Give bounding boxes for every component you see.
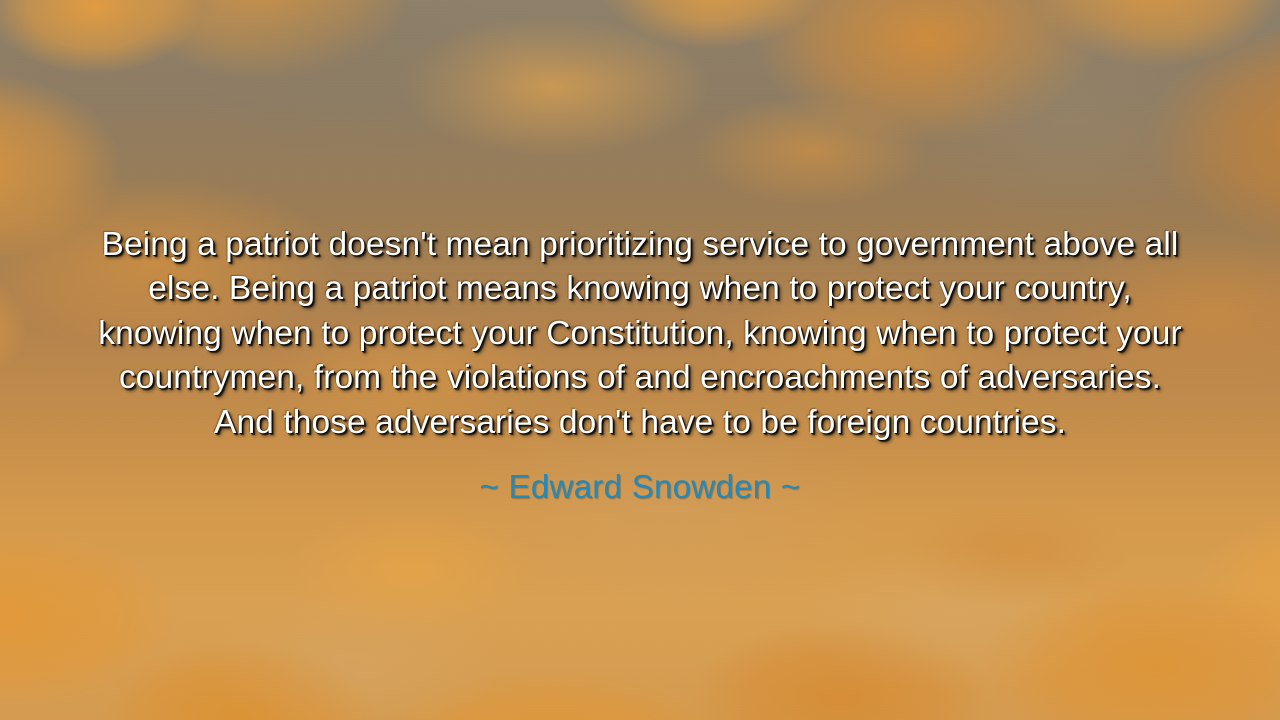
quote-attribution: ~ Edward Snowden ~ [480, 467, 801, 507]
quote-text: Being a patriot doesn't mean prioritizin… [95, 223, 1185, 446]
quote-card: Being a patriot doesn't mean prioritizin… [0, 0, 1280, 720]
quote-block: Being a patriot doesn't mean prioritizin… [0, 0, 1280, 720]
